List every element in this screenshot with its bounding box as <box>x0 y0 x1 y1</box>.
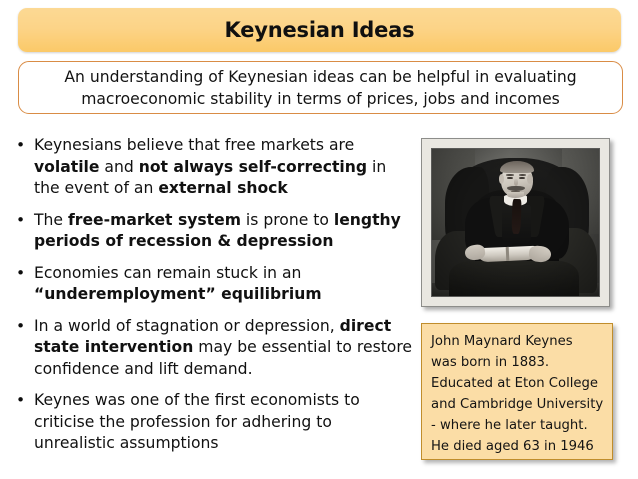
text-run: Economies can remain stuck in an <box>34 264 301 282</box>
slide-title-banner: Keynesian Ideas <box>18 8 621 52</box>
photo-vignette <box>432 149 599 296</box>
page-title: Keynesian Ideas <box>225 20 415 41</box>
emphasised-run: not always self-correcting <box>139 158 367 176</box>
text-run: Keynes was one of the first economists t… <box>34 391 360 452</box>
bullet-direct-state-intervention: In a world of stagnation or depression, … <box>34 316 412 381</box>
text-run: The <box>34 211 68 229</box>
text-run: In a world of stagnation or depression, <box>34 317 340 335</box>
bullet-dot-icon: • <box>12 210 34 232</box>
bullet-list: •Keynesians believe that free markets ar… <box>12 135 412 465</box>
bullet-dot-icon: • <box>12 316 34 338</box>
bullet-dot-icon: • <box>12 390 34 412</box>
list-item: •Keynesians believe that free markets ar… <box>12 135 412 200</box>
list-item: •In a world of stagnation or depression,… <box>12 316 412 381</box>
emphasised-run: “underemployment” equilibrium <box>34 285 322 303</box>
list-item: •Keynes was one of the first economists … <box>12 390 412 455</box>
bullet-underemployment-equilibrium: Economies can remain stuck in an “undere… <box>34 263 412 306</box>
text-run: Keynesians believe that free markets are <box>34 136 354 154</box>
bullet-criticise-profession: Keynes was one of the first economists t… <box>34 390 412 455</box>
subtitle-callout-box: An understanding of Keynesian ideas can … <box>18 61 623 114</box>
keynes-biography-caption: John Maynard Keynes was born in 1883. Ed… <box>421 323 613 460</box>
emphasised-run: free-market system <box>68 211 241 229</box>
subtitle-text: An understanding of Keynesian ideas can … <box>64 66 576 110</box>
text-run: is prone to <box>241 211 334 229</box>
list-item: •Economies can remain stuck in an “under… <box>12 263 412 306</box>
keynes-portrait-image <box>431 148 600 297</box>
emphasised-run: external shock <box>158 179 287 197</box>
caption-text: John Maynard Keynes was born in 1883. Ed… <box>431 331 604 457</box>
emphasised-run: volatile <box>34 158 99 176</box>
text-run: and <box>99 158 138 176</box>
keynes-photo-frame <box>421 138 610 307</box>
bullet-dot-icon: • <box>12 135 34 157</box>
bullet-dot-icon: • <box>12 263 34 285</box>
list-item: •The free-market system is prone to leng… <box>12 210 412 253</box>
bullet-free-markets-volatile: Keynesians believe that free markets are… <box>34 135 412 200</box>
bullet-free-market-system-recession: The free-market system is prone to lengt… <box>34 210 412 253</box>
